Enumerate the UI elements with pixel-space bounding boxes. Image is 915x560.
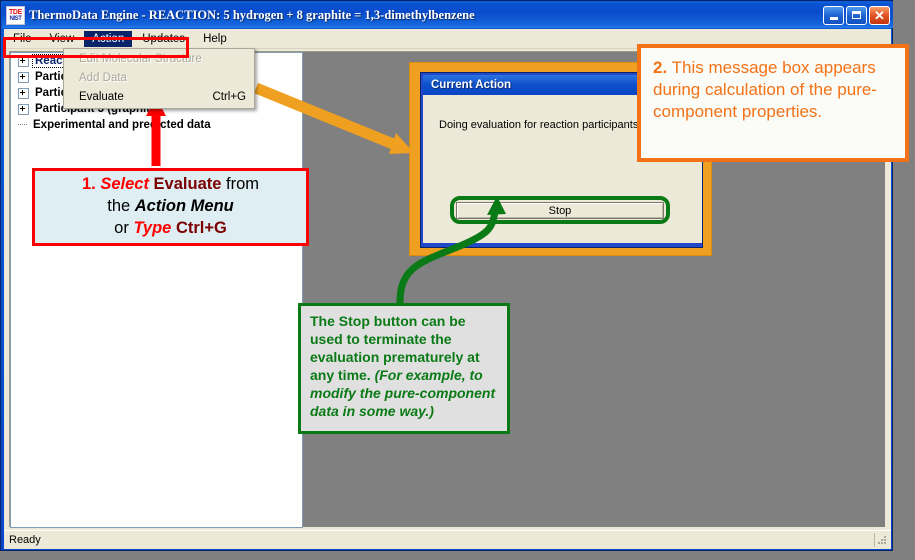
callout-one-type: Type	[133, 219, 171, 237]
minimize-button[interactable]	[823, 6, 844, 25]
status-bar: Ready	[4, 530, 891, 549]
expand-icon[interactable]	[18, 72, 29, 83]
window-controls: ✕	[823, 6, 890, 25]
callout-one-shortcut: Ctrl+G	[176, 219, 227, 237]
app-icon-tde-text: TDE	[9, 9, 22, 16]
menu-item-file[interactable]: File	[5, 31, 40, 47]
menu-option-evaluate[interactable]: Evaluate Ctrl+G	[64, 87, 254, 106]
callout-one-the: the	[107, 197, 130, 215]
reaction-tree-panel[interactable]: Reaction Participant 1 (1,3-dimethylbenz…	[10, 52, 303, 528]
menu-item-help[interactable]: Help	[195, 31, 235, 47]
tree-branch-icon	[18, 124, 27, 126]
tree-node-label: Experimental and predicted data	[31, 119, 213, 131]
callout-one-action-menu: Action Menu	[135, 197, 234, 215]
expand-icon[interactable]	[18, 104, 29, 115]
minimize-icon	[830, 17, 838, 20]
callout-one-from: from	[226, 175, 259, 193]
maximize-button[interactable]	[846, 6, 867, 25]
callout-two-number: 2.	[653, 58, 667, 77]
stop-button[interactable]: Stop	[456, 202, 664, 219]
expand-icon[interactable]	[18, 88, 29, 99]
menu-option-label: Edit Molecular Structure	[79, 53, 246, 65]
menu-option-label: Add Data	[79, 72, 246, 84]
callout-one: 1. Select Evaluate from the Action Menu …	[32, 168, 309, 246]
callout-one-evaluate: Evaluate	[154, 175, 222, 193]
callout-one-line-1: 1. Select Evaluate from	[82, 174, 259, 196]
callout-two-text: This message box appears during calculat…	[653, 58, 877, 121]
dialog-message: Doing evaluation for reaction participan…	[439, 119, 648, 131]
resize-grip-icon[interactable]	[875, 533, 889, 547]
close-icon: ✕	[874, 9, 885, 22]
action-dropdown-menu[interactable]: Edit Molecular Structure Add Data Evalua…	[63, 48, 255, 109]
expand-icon[interactable]	[18, 56, 29, 67]
menu-item-view[interactable]: View	[42, 31, 83, 47]
close-button[interactable]: ✕	[869, 6, 890, 25]
title-bar[interactable]: TDE NIST ThermoData Engine - REACTION: 5…	[2, 2, 893, 28]
menu-option-accelerator: Ctrl+G	[212, 91, 246, 103]
status-text: Ready	[9, 533, 875, 547]
screenshot-root: TDE NIST ThermoData Engine - REACTION: 5…	[0, 0, 915, 560]
callout-one-line-2: the Action Menu	[107, 196, 234, 218]
maximize-icon	[852, 11, 861, 19]
callout-three-the: The	[310, 313, 335, 329]
app-icon-nist-text: NIST	[9, 16, 21, 22]
menu-option-label: Evaluate	[79, 91, 192, 103]
application-icon: TDE NIST	[6, 6, 25, 25]
menu-item-action[interactable]: Action	[84, 31, 132, 47]
callout-two: 2. This message box appears during calcu…	[637, 44, 909, 162]
menu-option-edit-molecular-structure: Edit Molecular Structure	[64, 49, 254, 68]
callout-three-stop: Stop	[339, 313, 370, 329]
callout-three: The Stop button can be used to terminate…	[298, 303, 510, 434]
window-title: ThermoData Engine - REACTION: 5 hydrogen…	[29, 8, 823, 23]
callout-one-select: Select	[100, 175, 149, 193]
dialog-title: Current Action	[431, 79, 511, 91]
callout-one-number: 1.	[82, 175, 96, 193]
menu-item-updates[interactable]: Updates	[134, 31, 193, 47]
callout-one-line-3: or Type Ctrl+G	[114, 218, 227, 240]
tree-node-experimental-data[interactable]: Experimental and predicted data	[11, 117, 302, 133]
menu-option-add-data: Add Data	[64, 68, 254, 87]
callout-one-or: or	[114, 219, 129, 237]
